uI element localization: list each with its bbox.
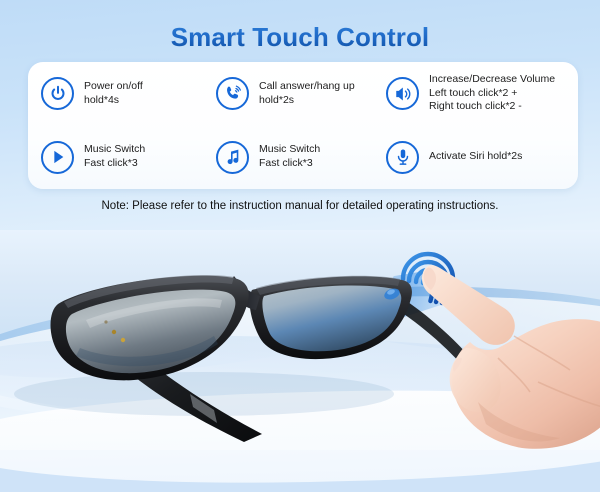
feature-card-panel: Power on/off hold*4s Call answer/hang up… [28,62,578,189]
feature-label: Power on/off hold*4s [84,80,143,108]
feature-item-power: Power on/off hold*4s [28,62,203,125]
feature-label: Music Switch Fast click*3 [259,143,320,171]
feature-item-siri: Activate Siri hold*2s [378,125,578,189]
feature-label: Increase/Decrease Volume Left touch clic… [429,73,555,115]
note-text: Note: Please refer to the instruction ma… [0,200,600,212]
feature-label: Activate Siri hold*2s [429,150,522,164]
feature-label: Music Switch Fast click*3 [84,143,145,171]
page-title: Smart Touch Control [0,22,600,53]
feature-item-volume: Increase/Decrease Volume Left touch clic… [378,62,578,125]
volume-icon [386,77,419,110]
feature-item-music-switch-play: Music Switch Fast click*3 [28,125,203,189]
phone-call-icon [216,77,249,110]
pointing-hand [418,262,600,452]
feature-item-music-switch-note: Music Switch Fast click*3 [203,125,378,189]
feature-label: Call answer/hang up hold*2s [259,80,355,108]
play-icon [41,141,74,174]
feature-item-call: Call answer/hang up hold*2s [203,62,378,125]
music-note-icon [216,141,249,174]
power-icon [41,77,74,110]
microphone-icon [386,141,419,174]
